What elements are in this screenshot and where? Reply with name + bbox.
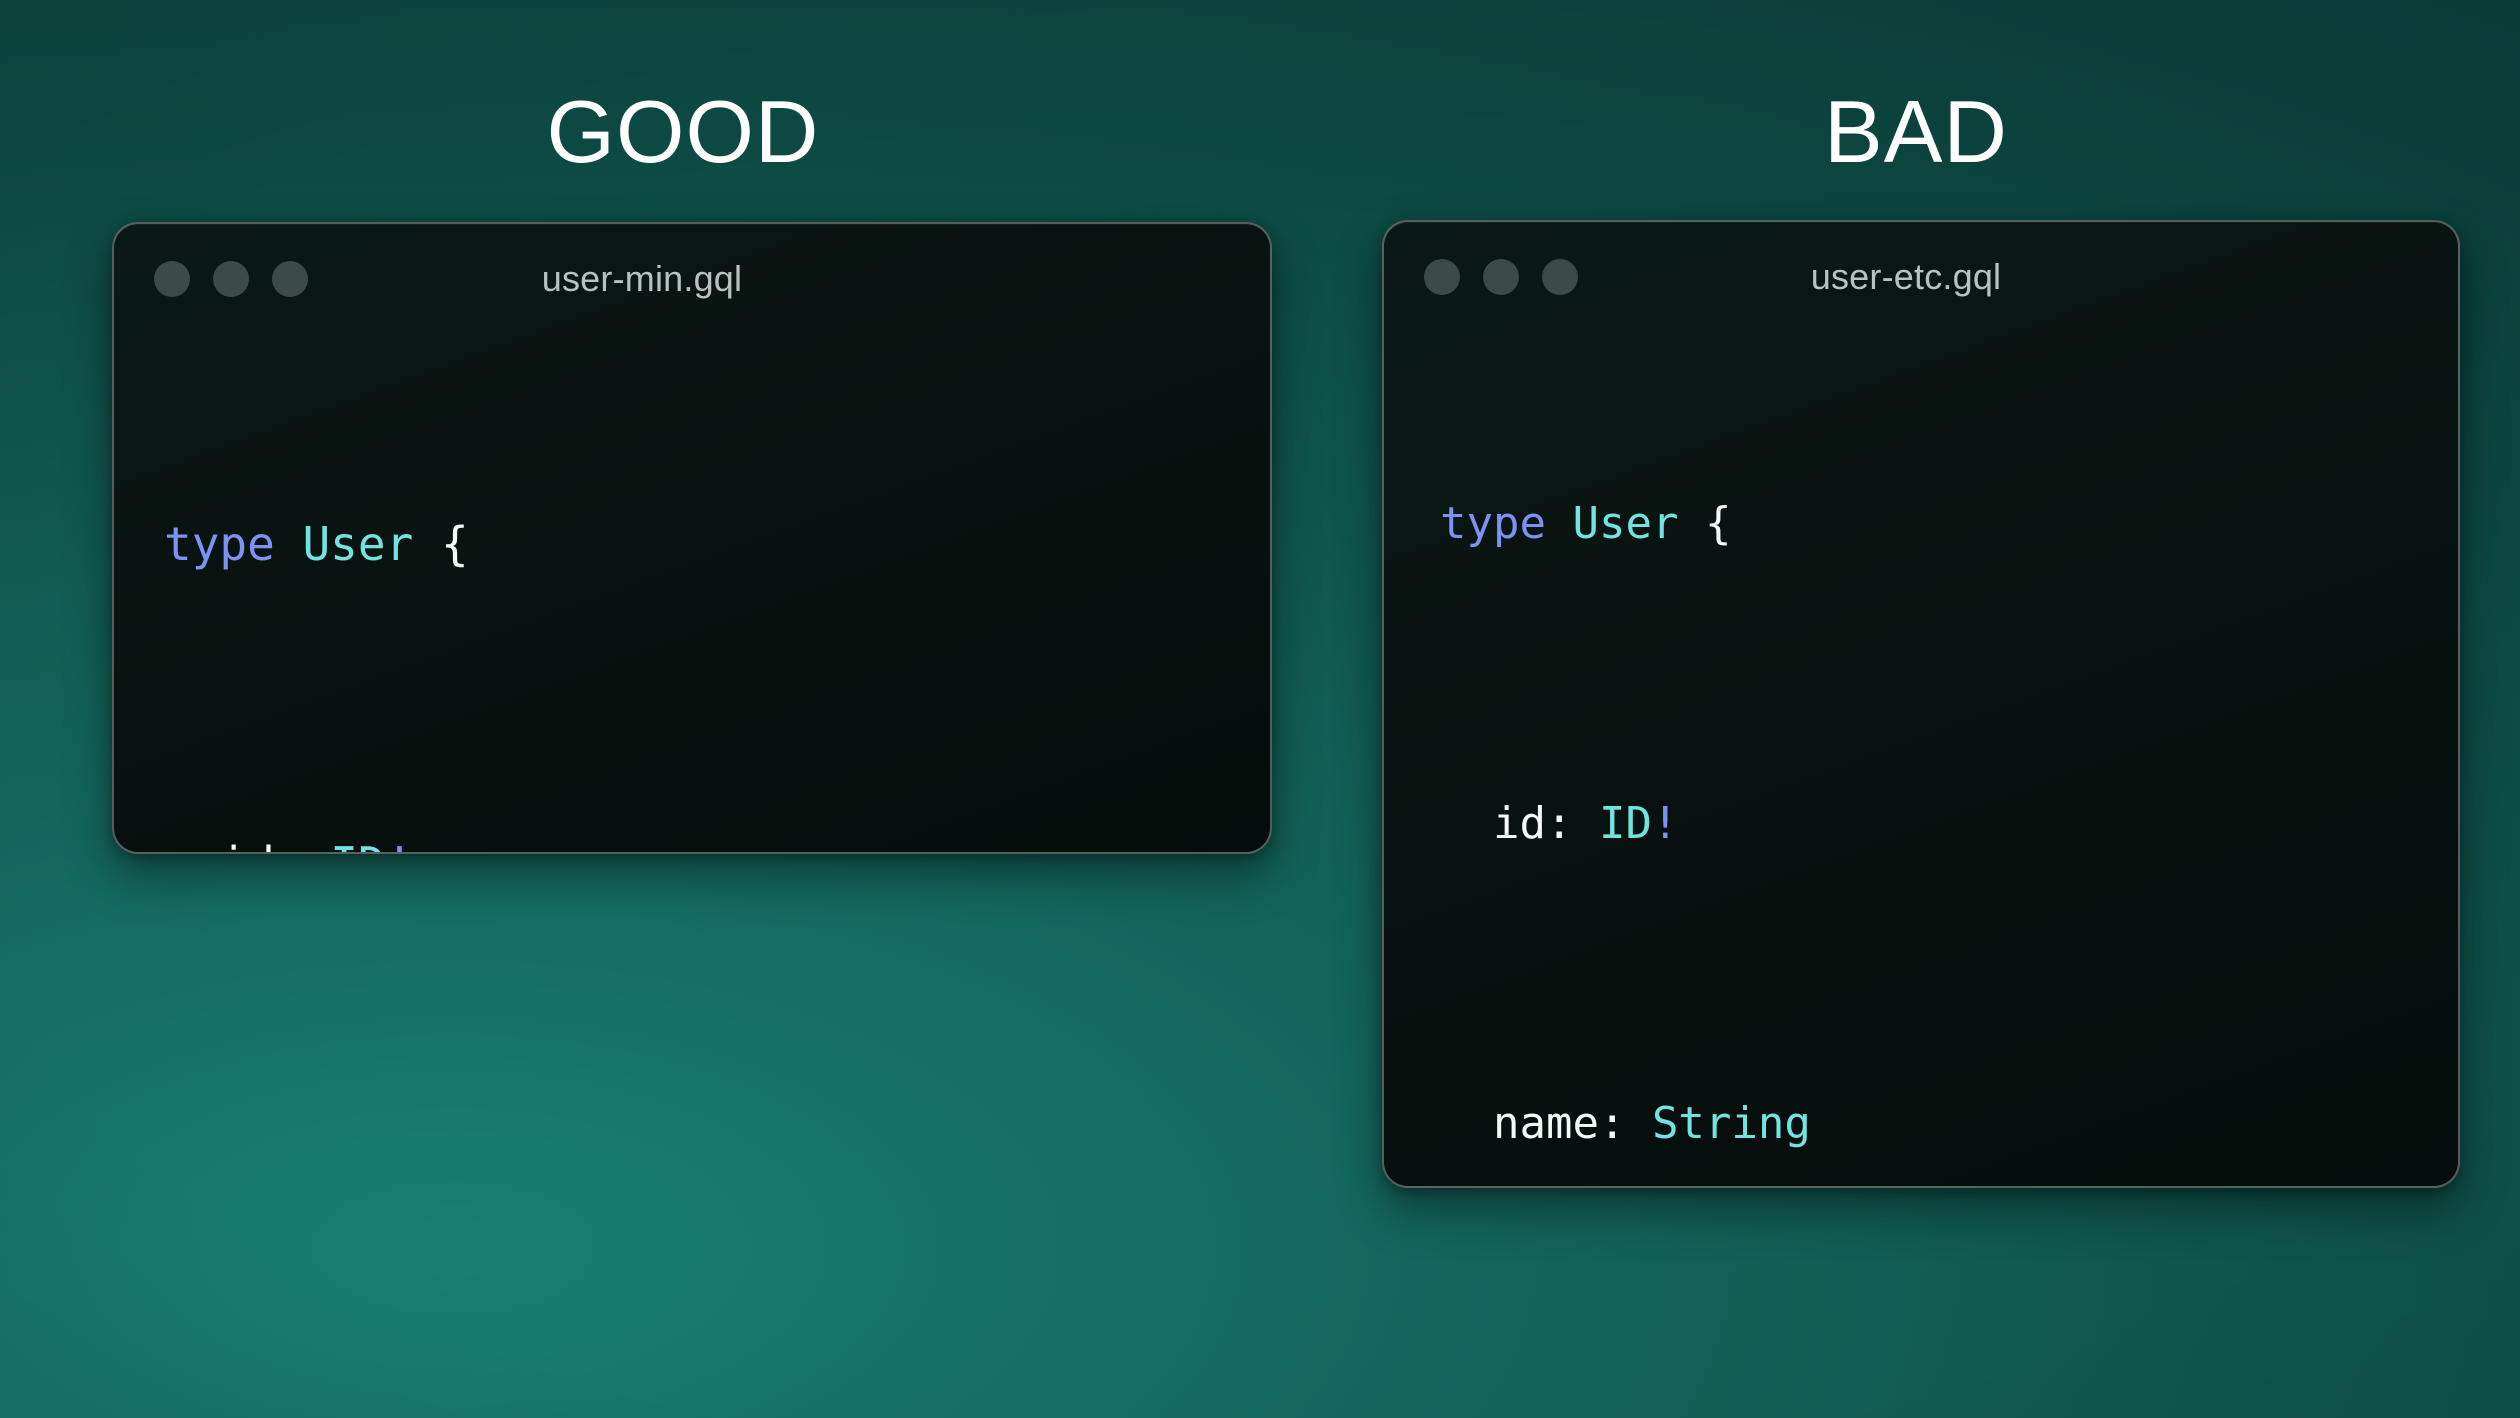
token-space — [1625, 1098, 1652, 1149]
code-window-bad[interactable]: user-etc.gql type User { id: ID! name: S… — [1382, 220, 2460, 1188]
token-space — [1572, 798, 1599, 849]
titlebar-good: user-min.gql — [114, 224, 1270, 334]
token-bang: ! — [386, 837, 414, 854]
token-space — [1546, 498, 1573, 549]
code-window-good[interactable]: user-min.gql type User { id: ID! name: S… — [112, 222, 1272, 854]
token-indent — [1440, 798, 1493, 849]
code-line: id: ID! — [1440, 786, 2458, 861]
token-indent — [164, 837, 219, 854]
code-block-bad[interactable]: type User { id: ID! name: String created… — [1384, 332, 2458, 1188]
token-type-name: String — [1652, 1098, 1811, 1149]
window-dot-green-icon[interactable] — [1542, 259, 1578, 295]
window-dot-red-icon[interactable] — [154, 261, 190, 297]
code-line: type User { — [1440, 486, 2458, 561]
token-field: id: — [1493, 798, 1572, 849]
token-type-name: User — [1572, 498, 1678, 549]
column-heading-good: GOOD — [547, 88, 820, 176]
token-field: id: — [219, 837, 302, 854]
window-dot-red-icon[interactable] — [1424, 259, 1460, 295]
token-space — [413, 517, 441, 571]
token-space — [1678, 498, 1705, 549]
token-indent — [1440, 1098, 1493, 1149]
token-type-name: ID — [1599, 798, 1652, 849]
token-keyword: type — [164, 517, 275, 571]
token-brace-open: { — [441, 517, 469, 571]
titlebar-bad: user-etc.gql — [1384, 222, 2458, 332]
token-space — [302, 837, 330, 854]
token-brace-open: { — [1705, 498, 1732, 549]
slide-canvas: GOOD user-min.gql type User { id: ID! na… — [0, 0, 2520, 1418]
token-type-name: ID — [330, 837, 385, 854]
token-bang: ! — [1652, 798, 1679, 849]
window-controls-good[interactable] — [154, 261, 308, 297]
token-field: name: — [1493, 1098, 1625, 1149]
code-line: name: String — [1440, 1086, 2458, 1161]
window-controls-bad[interactable] — [1424, 259, 1578, 295]
window-dot-yellow-icon[interactable] — [213, 261, 249, 297]
token-type-name: User — [302, 517, 413, 571]
token-space — [275, 517, 303, 571]
token-keyword: type — [1440, 498, 1546, 549]
code-line: type User { — [164, 504, 1270, 584]
code-block-good[interactable]: type User { id: ID! name: String created… — [114, 334, 1270, 854]
window-dot-yellow-icon[interactable] — [1483, 259, 1519, 295]
window-dot-green-icon[interactable] — [272, 261, 308, 297]
code-line: id: ID! — [164, 824, 1270, 854]
column-heading-bad: BAD — [1824, 88, 2008, 176]
